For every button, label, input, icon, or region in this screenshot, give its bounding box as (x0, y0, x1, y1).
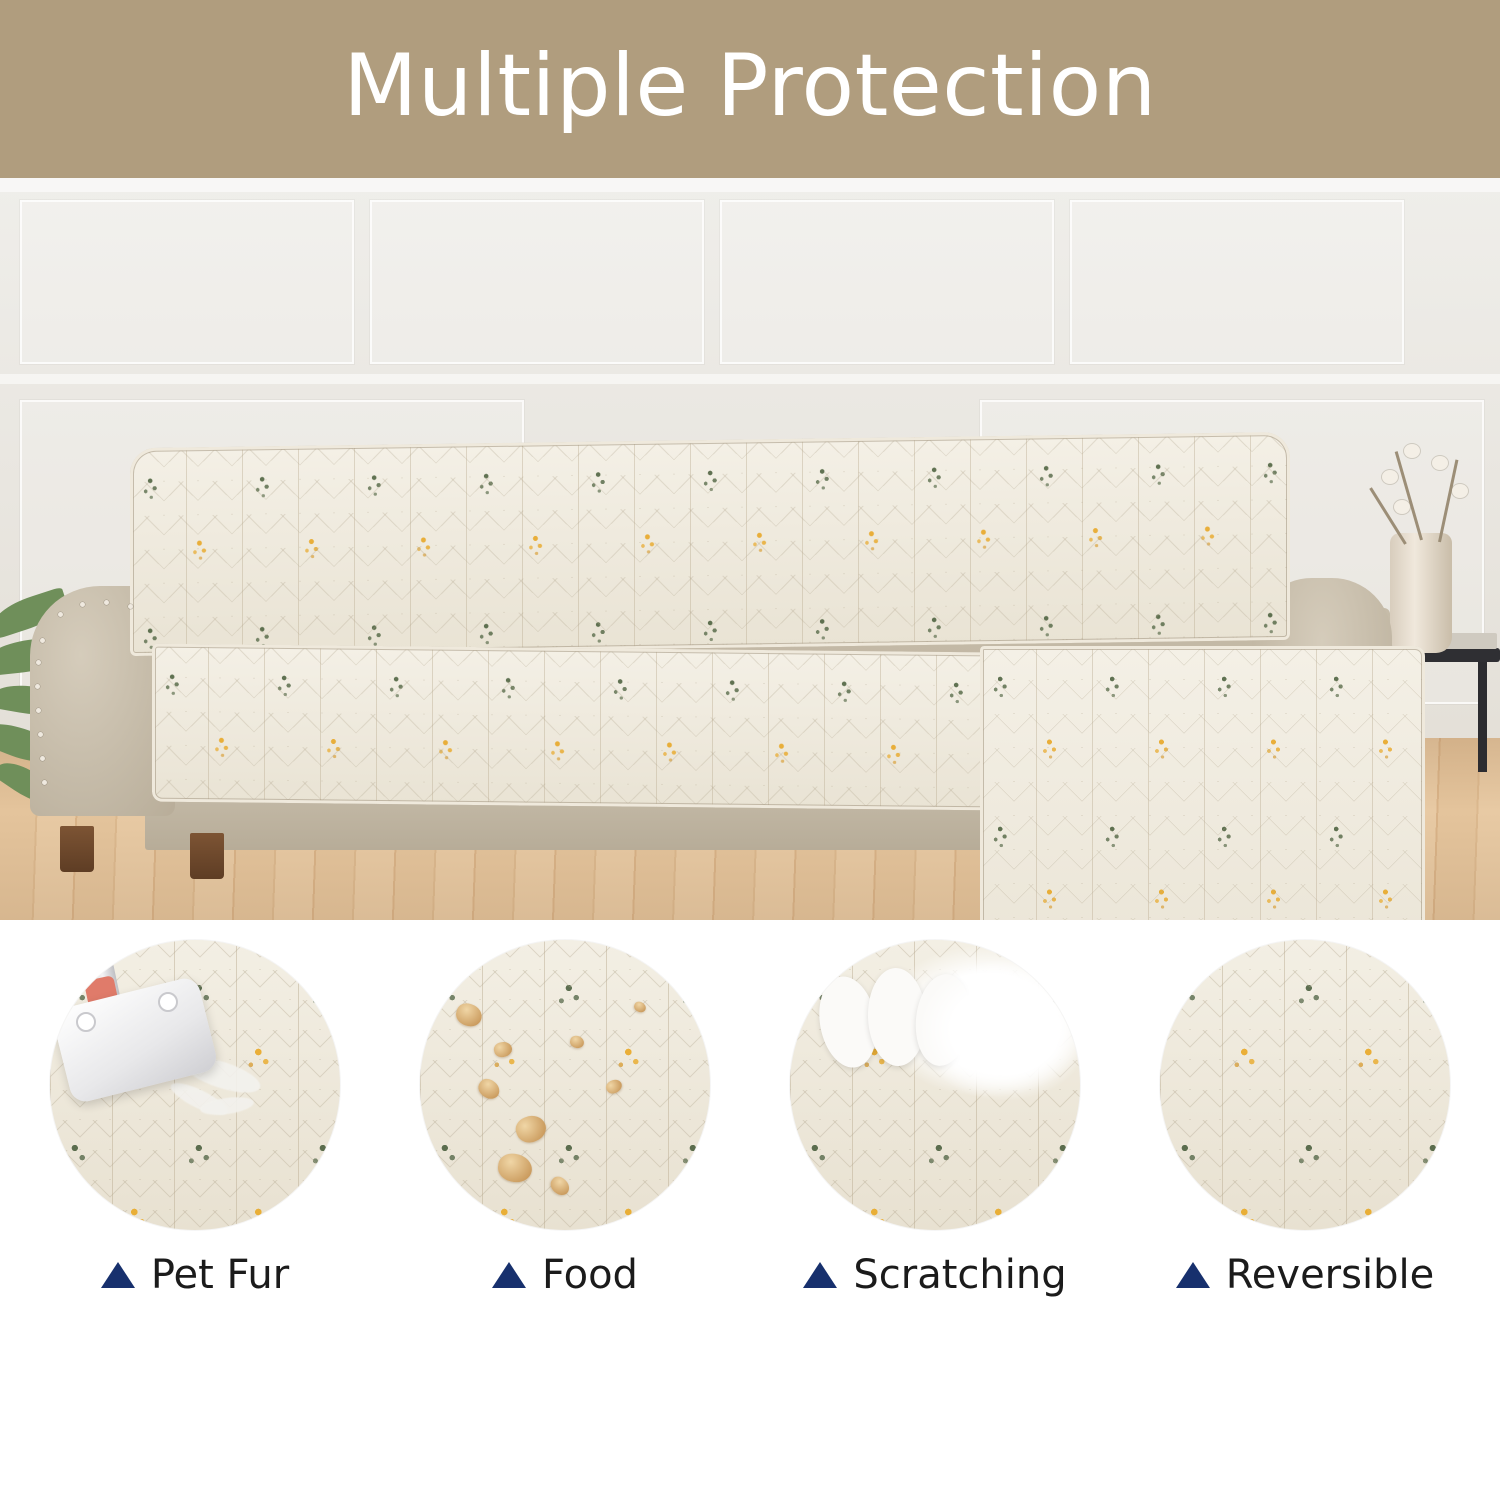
roller-tip (76, 1012, 96, 1032)
feature-row: Pet Fur Food (0, 920, 1500, 1500)
page-title: Multiple Protection (343, 43, 1157, 135)
caption-pet-fur: Pet Fur (101, 1252, 289, 1298)
wall-panel (370, 200, 704, 364)
ceramic-vase (1390, 533, 1452, 653)
wall-panel (720, 200, 1054, 364)
cotton-bloom (1382, 470, 1398, 484)
slipcover-backrest (130, 432, 1290, 656)
feature-food: Food (395, 940, 735, 1298)
feature-label: Pet Fur (151, 1252, 289, 1298)
header-banner: Multiple Protection (0, 0, 1500, 178)
wall-molding-top (0, 178, 1500, 192)
feature-label: Reversible (1226, 1252, 1434, 1298)
side-table-leg (1478, 662, 1487, 772)
feature-label: Scratching (853, 1252, 1066, 1298)
triangle-bullet-icon (492, 1262, 526, 1288)
cotton-bloom (1432, 456, 1448, 470)
pet-fur-image (50, 940, 340, 1230)
sofa-leg (190, 833, 224, 879)
scratching-image (790, 940, 1080, 1230)
roller-body (51, 975, 220, 1104)
feature-scratching: Scratching (765, 940, 1105, 1298)
caption-reversible: Reversible (1176, 1252, 1434, 1298)
slipcover-chaise (980, 646, 1425, 920)
sofa-leg (60, 826, 94, 872)
triangle-bullet-icon (1176, 1262, 1210, 1288)
caption-scratching: Scratching (803, 1252, 1066, 1298)
food-image (420, 940, 710, 1230)
roller-tip (158, 992, 178, 1012)
wall-panel (1070, 200, 1404, 364)
lint-roller-illustration (50, 940, 340, 1230)
triangle-bullet-icon (101, 1262, 135, 1288)
hero-room-scene (0, 178, 1500, 920)
caption-food: Food (492, 1252, 638, 1298)
cotton-bloom (1404, 444, 1420, 458)
cat-paws-illustration (790, 940, 1080, 1230)
crumbs-illustration (420, 940, 710, 1230)
feature-label: Food (542, 1252, 638, 1298)
triangle-bullet-icon (803, 1262, 837, 1288)
feature-pet-fur: Pet Fur (25, 940, 365, 1298)
feature-reversible: Reversible (1135, 940, 1475, 1298)
reversible-image (1160, 940, 1450, 1230)
cotton-bloom (1394, 500, 1410, 514)
wall-molding-mid (0, 374, 1500, 384)
cotton-bloom (1452, 484, 1468, 498)
wall-panel (20, 200, 354, 364)
nailhead-trim-left-arm (34, 598, 174, 808)
slipcover-seat (152, 644, 992, 811)
